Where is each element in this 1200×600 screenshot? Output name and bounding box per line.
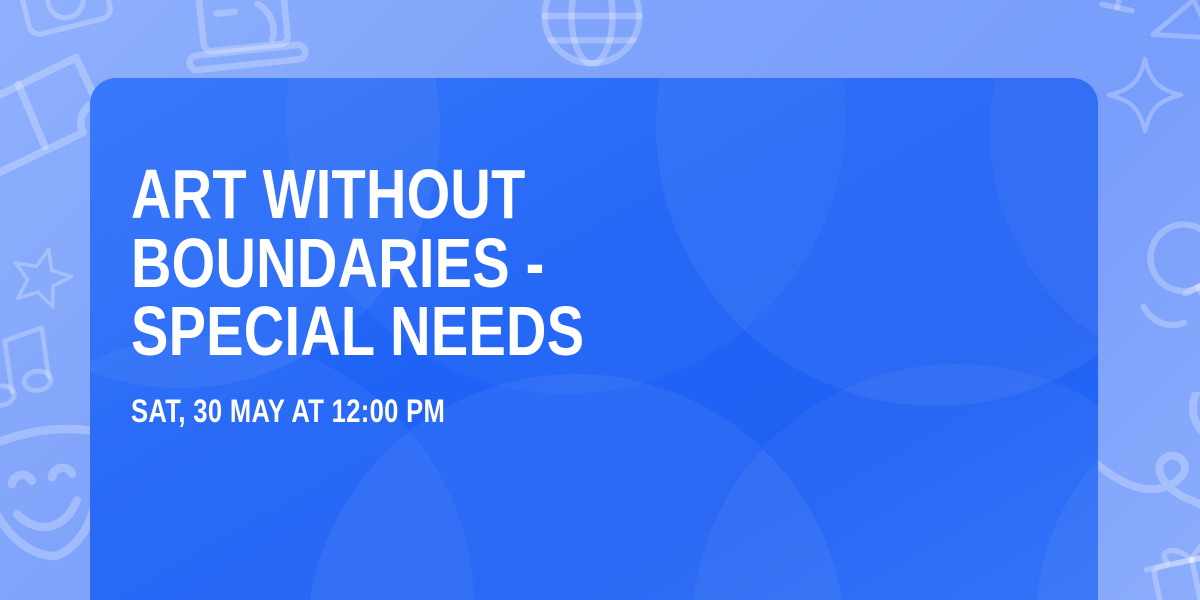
sparkle-icon bbox=[1102, 52, 1188, 138]
event-banner: Art Without Boundaries - Special Needs S… bbox=[0, 0, 1200, 600]
camera-icon bbox=[1, 0, 127, 57]
card-content: Art Without Boundaries - Special Needs S… bbox=[131, 78, 1058, 600]
gift-icon bbox=[1130, 510, 1200, 600]
event-card[interactable]: Art Without Boundaries - Special Needs S… bbox=[90, 78, 1098, 600]
star-icon bbox=[0, 232, 86, 319]
balloon-icon bbox=[1054, 0, 1184, 64]
microphone-icon bbox=[1107, 197, 1200, 358]
music-note-icon bbox=[0, 312, 72, 420]
streamer-swirl-icon bbox=[1094, 392, 1200, 582]
event-title: Art Without Boundaries - Special Needs bbox=[131, 160, 771, 366]
globe-icon bbox=[528, 0, 656, 80]
event-date-time: Sat, 30 May at 12:00 PM bbox=[131, 393, 445, 430]
party-popper-icon bbox=[1133, 0, 1200, 81]
